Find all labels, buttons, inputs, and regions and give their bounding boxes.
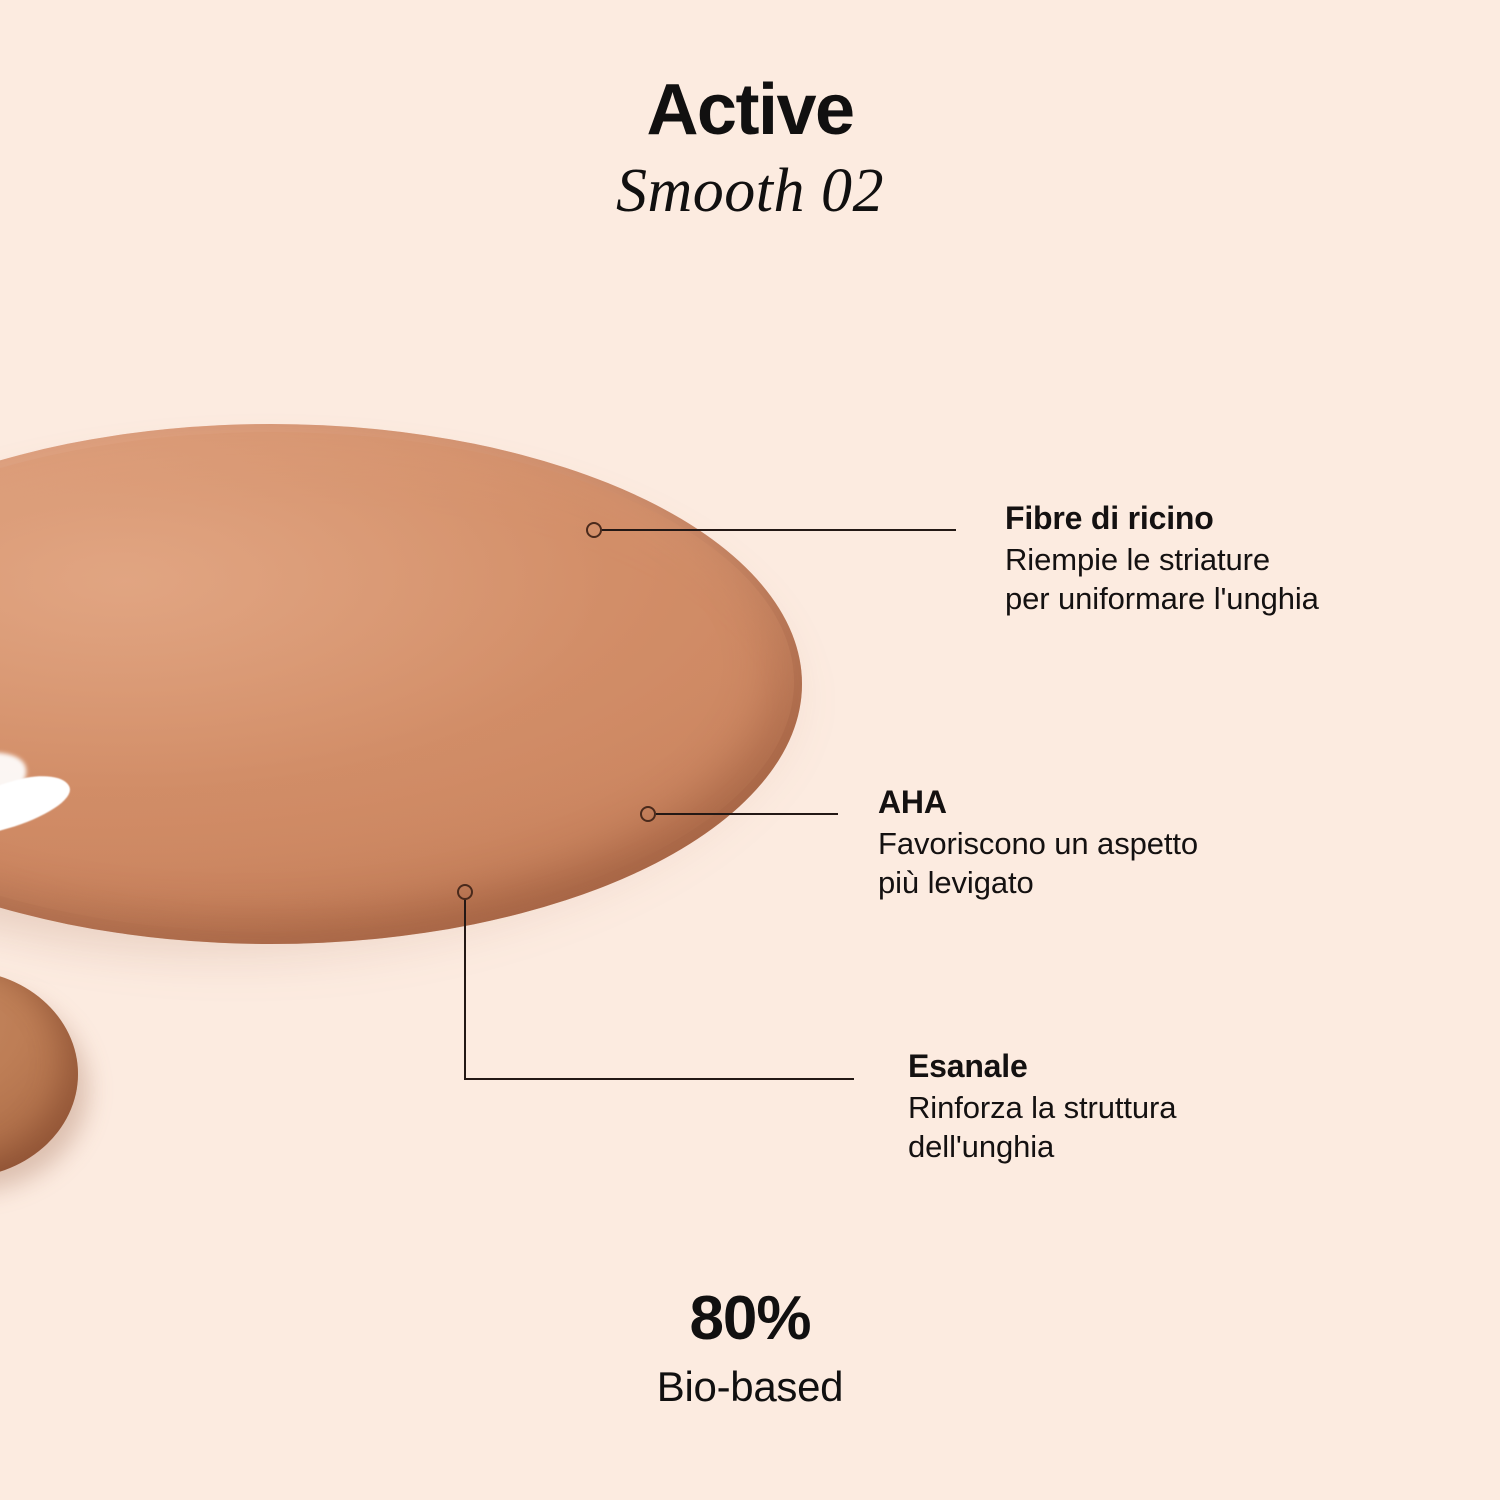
leader-dot-aha [640,806,656,822]
callout-body-line: Riempie le striature [1005,540,1319,580]
leader-dot-esanale [457,884,473,900]
callout-body-aha: Favoriscono un aspetto più levigato [878,824,1198,903]
callout-aha: AHA Favoriscono un aspetto più levigato [878,784,1198,903]
droplet-specular-highlight [0,767,76,842]
callout-body-line: più levigato [878,863,1198,903]
leader-line-aha [656,813,838,815]
callout-title-fibre-di-ricino: Fibre di ricino [1005,500,1319,538]
callout-body-line: per uniformare l'unghia [1005,579,1319,619]
bio-based-label: Bio-based [0,1366,1500,1408]
droplet-specular-glow [0,736,36,847]
callout-body-fibre-di-ricino: Riempie le striature per uniformare l'un… [1005,540,1319,619]
callout-esanale: Esanale Rinforza la struttura dell'unghi… [908,1048,1176,1167]
leader-dot-fibre-di-ricino [586,522,602,538]
leader-line-esanale-vertical [464,898,466,1080]
poster-header: Active Smooth 02 [0,74,1500,222]
page-title: Active [0,74,1500,146]
small-droplet-shadow [0,988,88,1192]
page-subtitle: Smooth 02 [0,160,1500,222]
callout-body-line: dell'unghia [908,1127,1176,1167]
callout-title-aha: AHA [878,784,1198,822]
bio-based-stat: 80% Bio-based [0,1288,1500,1408]
bio-based-value: 80% [0,1288,1500,1350]
leader-line-esanale-horizontal [464,1078,854,1080]
callout-body-line: Rinforza la struttura [908,1088,1176,1128]
callout-body-line: Favoriscono un aspetto [878,824,1198,864]
droplet-artwork [0,0,1500,1500]
product-ingredient-poster: Active Smooth 02 Fibre di ricino Riempie… [0,0,1500,1500]
callout-fibre-di-ricino: Fibre di ricino Riempie le striature per… [1005,500,1319,619]
small-droplet [0,970,78,1178]
callout-body-esanale: Rinforza la struttura dell'unghia [908,1088,1176,1167]
large-droplet-sheen [0,432,794,932]
leader-line-fibre-di-ricino [600,529,956,531]
callout-title-esanale: Esanale [908,1048,1176,1086]
large-droplet [0,424,802,944]
